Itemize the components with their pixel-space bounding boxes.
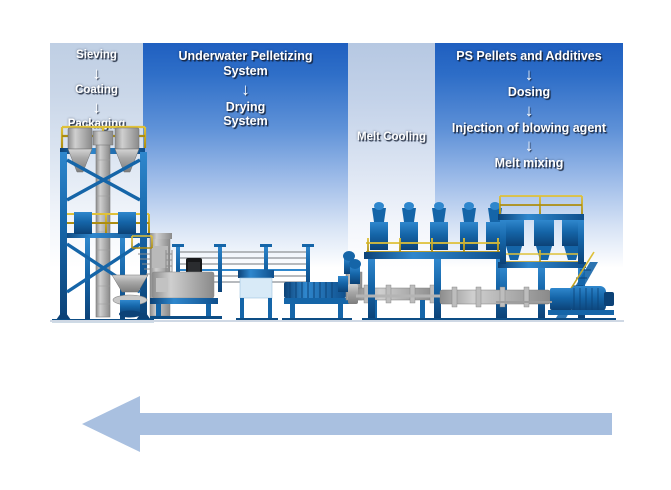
melt-cooler-heat-exchanger xyxy=(348,259,436,321)
equipment-reflection xyxy=(0,322,671,384)
equipment-line xyxy=(0,0,671,345)
melt-tank xyxy=(150,272,222,319)
extruder-with-motor xyxy=(440,286,616,321)
silo-tower-with-platforms xyxy=(52,127,154,322)
diagram-canvas: Sieving ↓ Coating ↓ Packaging Underwater… xyxy=(0,0,671,490)
left-arrow-icon xyxy=(82,396,612,452)
transfer-table xyxy=(236,270,278,321)
process-flow-arrow xyxy=(82,396,612,452)
